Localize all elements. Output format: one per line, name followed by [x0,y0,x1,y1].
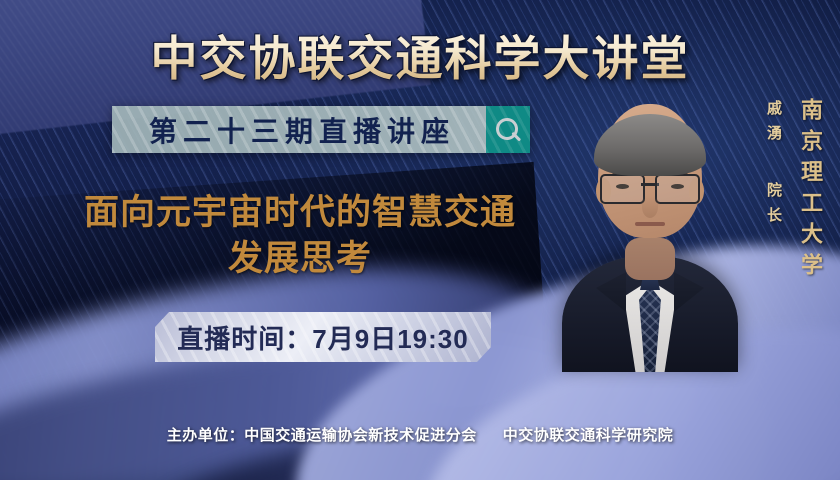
search-icon-block[interactable] [486,106,530,153]
footer-org-2: 中交协联交通科学研究院 [503,427,674,444]
footer-prefix: 主办单位： [167,427,245,444]
episode-banner-body: 第二十三期直播讲座 [112,106,486,153]
speaker-role: 院长 [763,182,784,232]
portrait-face [598,104,702,238]
eyeglass-lens-right [655,174,700,204]
episode-banner: 第二十三期直播讲座 [112,106,530,153]
portrait-nose [642,196,658,218]
speaker-organization: 南京理工大学 [794,98,826,284]
episode-label: 第二十三期直播讲座 [143,110,455,150]
portrait-neck [625,238,675,280]
broadcast-time-label: 直播时间：7月9日19:30 [177,319,468,356]
eyeglass-lens-left [600,174,645,204]
speaker-portrait [566,88,734,372]
footer-org-1: 中国交通运输协会新技术促进分会 [244,427,477,444]
topic-title: 面向元宇宙时代的智慧交通 发展思考 [40,190,560,281]
livestream-poster: 中交协联交通科学大讲堂 第二十三期直播讲座 面向元宇宙时代的智慧交通 发展思考 … [0,0,840,480]
broadcast-time-badge: 直播时间：7月9日19:30 [155,312,491,362]
portrait-hair [594,114,706,176]
topic-line-1: 面向元宇宙时代的智慧交通 [84,193,516,232]
search-icon [495,117,521,143]
footer-organizers: 主办单位：中国交通运输协会新技术促进分会中交协联交通科学研究院 [0,424,840,445]
speaker-name: 戚湧 [763,100,784,150]
topic-line-2: 发展思考 [40,236,560,282]
portrait-mouth [635,222,665,226]
page-title: 中交协联交通科学大讲堂 [0,20,840,89]
